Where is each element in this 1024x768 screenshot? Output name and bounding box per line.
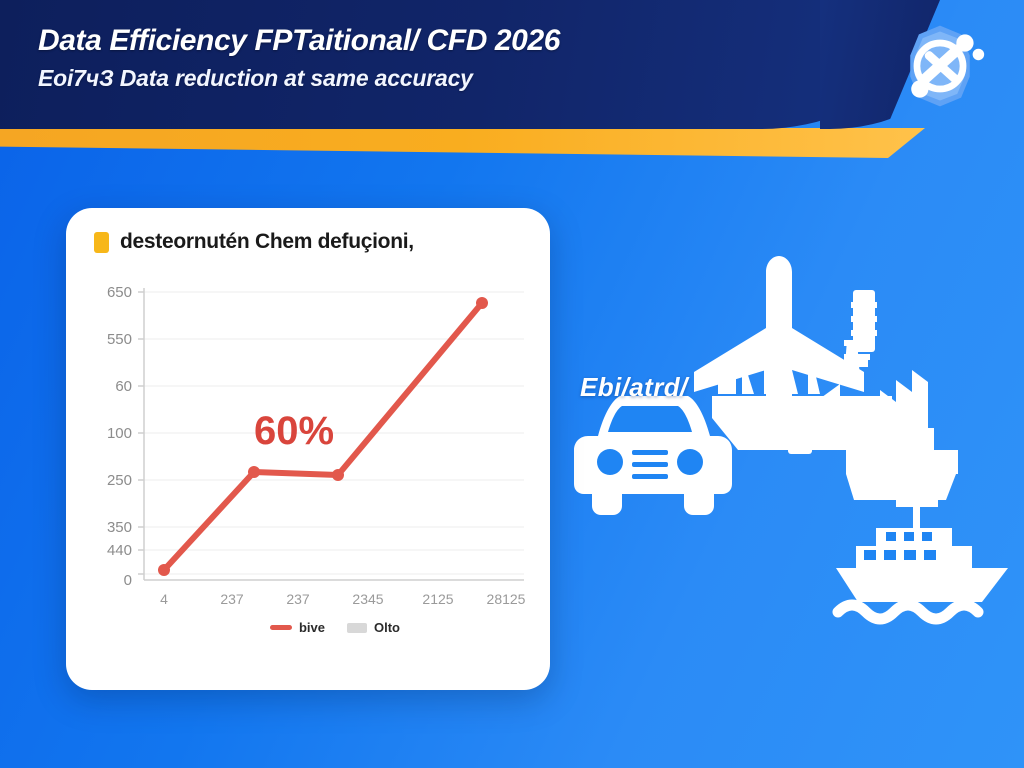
y-tick-label: 100 (107, 425, 132, 442)
y-tick-label: 650 (107, 284, 132, 301)
chart-y-tick-labels: 650 550 60 100 250 350 440 0 (107, 284, 132, 589)
card-title: desteornutén Chem defuçioni, (120, 230, 414, 254)
y-tick-label: 350 (107, 519, 132, 536)
line-chart-svg: 650 550 60 100 250 350 440 0 60% (86, 274, 530, 624)
chart-x-tick-labels: 4 237 237 2345 2125 28125 (160, 591, 526, 607)
x-tick-label: 4 (160, 591, 168, 607)
header-accent-stripe (0, 128, 925, 158)
car-icon (574, 396, 732, 515)
chart-card: desteornutén Chem defuçioni, (66, 208, 550, 690)
x-tick-label: 28125 (487, 591, 526, 607)
factory-chimney-icon (851, 290, 877, 352)
chart-data-point (248, 466, 260, 478)
ship-icon (836, 484, 1008, 602)
water-waves-icon (838, 605, 978, 619)
chart-data-point (332, 469, 344, 481)
page-title: Data Efficiency FPTaitional/ CFD 2026 (38, 22, 738, 60)
x-tick-label: 2125 (422, 591, 453, 607)
chart-y-ticks (138, 292, 144, 574)
sector-icon-cluster (570, 250, 1010, 630)
y-tick-label: 550 (107, 331, 132, 348)
sector-caption: Ebi/atrd/ (580, 372, 688, 403)
compass-globe-logo-icon (892, 18, 988, 114)
card-title-row: desteornutén Chem defuçioni, (86, 230, 530, 254)
chart-plot-area: 650 550 60 100 250 350 440 0 60% (86, 274, 530, 624)
chart-data-point (476, 297, 488, 309)
chart-annotation-60-percent: 60% (254, 409, 334, 453)
y-tick-label: 60 (115, 378, 132, 395)
page-subtitle: Eoi7чЗ Data reduction at same accuracy (38, 64, 738, 94)
card-bullet-icon (94, 232, 109, 253)
x-tick-label: 2345 (352, 591, 383, 607)
x-tick-label: 237 (286, 591, 310, 607)
legend-line-swatch-icon (270, 625, 292, 630)
y-tick-label: 250 (107, 472, 132, 489)
y-tick-label: 440 (107, 542, 132, 559)
y-tick-label: 0 (124, 572, 132, 589)
header-title-block: Data Efficiency FPTaitional/ CFD 2026 Eo… (38, 22, 738, 93)
chart-data-point (158, 564, 170, 576)
legend-square-swatch-icon (347, 623, 367, 633)
x-tick-label: 237 (220, 591, 244, 607)
